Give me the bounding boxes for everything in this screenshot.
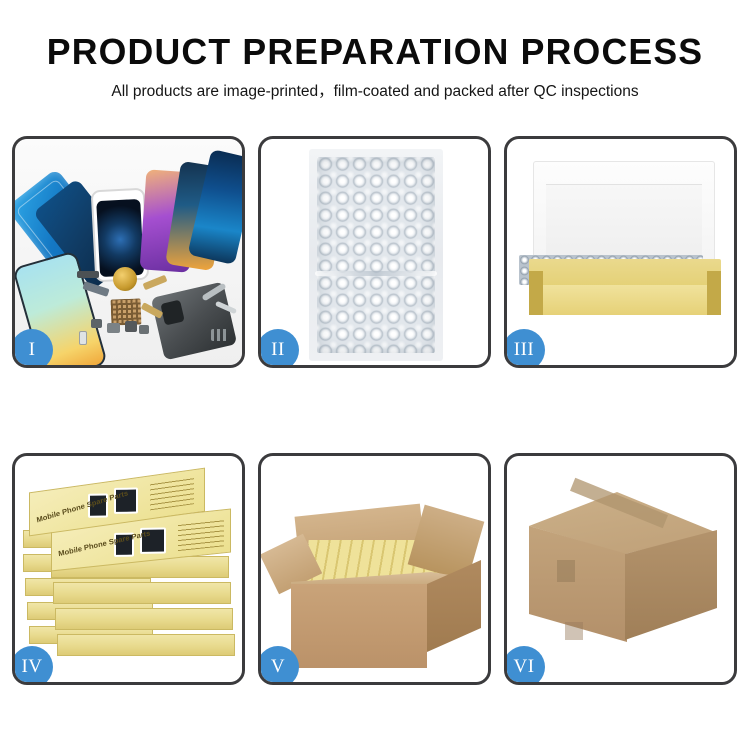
sealed-carton-scene bbox=[507, 456, 734, 682]
step-5-image bbox=[261, 456, 488, 682]
connector-bar-icon bbox=[77, 271, 99, 278]
step-6-image bbox=[507, 456, 734, 682]
retail-box-side bbox=[57, 634, 235, 656]
process-step-card-1[interactable]: I bbox=[12, 136, 245, 368]
carton-patch bbox=[557, 560, 575, 582]
small-part-icon bbox=[125, 321, 137, 332]
step-badge-1: I bbox=[12, 329, 53, 368]
phone-parts-scene bbox=[15, 139, 242, 365]
page-header: PRODUCT PREPARATION PROCESS All products… bbox=[0, 0, 750, 104]
small-part-icon bbox=[139, 325, 149, 334]
process-step-card-5[interactable]: V bbox=[258, 453, 491, 685]
step-4-image: Mobile Phone Spare Parts Mobile Phone Sp… bbox=[15, 456, 242, 682]
open-carton-scene bbox=[261, 456, 488, 682]
step-badge-6: VI bbox=[504, 646, 545, 685]
step-badge-5: V bbox=[258, 646, 299, 685]
process-step-card-2[interactable]: II bbox=[258, 136, 491, 368]
back-housing-icon bbox=[151, 281, 238, 360]
step-badge-4: IV bbox=[12, 646, 53, 685]
bubble-wrap-scene bbox=[261, 139, 488, 365]
retail-box-side bbox=[53, 582, 231, 604]
carton-front-face bbox=[291, 584, 427, 668]
box-text-lines bbox=[150, 476, 194, 510]
carton-patch bbox=[565, 622, 583, 640]
screws-icon bbox=[211, 329, 229, 341]
box-tray-end-left bbox=[529, 271, 543, 315]
box-tray-front bbox=[529, 285, 721, 315]
small-part-icon bbox=[79, 331, 87, 345]
bubble-seam bbox=[315, 271, 437, 276]
page-title: PRODUCT PREPARATION PROCESS bbox=[4, 30, 747, 74]
small-part-icon bbox=[91, 319, 102, 328]
speaker-coil-icon bbox=[113, 267, 137, 291]
process-step-card-3[interactable]: III bbox=[504, 136, 737, 368]
process-step-card-4[interactable]: Mobile Phone Spare Parts Mobile Phone Sp… bbox=[12, 453, 245, 685]
box-text-lines bbox=[178, 518, 224, 551]
bubble-sleeve bbox=[309, 149, 443, 361]
retail-box-stack-scene: Mobile Phone Spare Parts Mobile Phone Sp… bbox=[15, 456, 242, 682]
step-badge-3: III bbox=[504, 329, 545, 368]
step-badge-2: II bbox=[258, 329, 299, 368]
box-tray-end-right bbox=[707, 271, 721, 315]
box-tray-icon bbox=[529, 259, 721, 315]
retail-box-side bbox=[55, 608, 233, 630]
small-part-icon bbox=[107, 323, 120, 333]
step-3-image bbox=[507, 139, 734, 365]
process-step-card-6[interactable]: VI bbox=[504, 453, 737, 685]
process-step-grid: I II bbox=[12, 136, 738, 685]
bubble-wrap-icon bbox=[317, 157, 435, 353]
step-2-image bbox=[261, 139, 488, 365]
box-label-text: Mobile Phone Spare Parts bbox=[58, 528, 151, 558]
step-1-image bbox=[15, 139, 242, 365]
open-inner-box-scene bbox=[507, 139, 734, 365]
page-subtitle: All products are image-printed，film-coat… bbox=[0, 80, 750, 104]
